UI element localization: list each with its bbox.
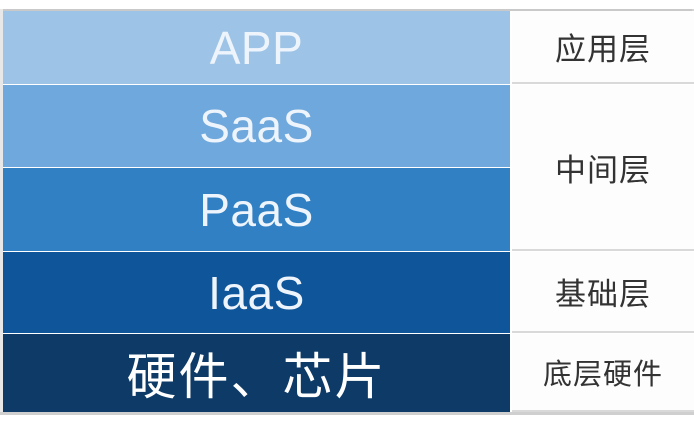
tier-label-hardware: 底层硬件 — [543, 351, 663, 393]
layer-label-saas: SaaS — [199, 99, 314, 153]
layer-label-paas: PaaS — [199, 183, 314, 237]
frame-bottom-border — [0, 412, 694, 415]
layer-band-paas[interactable]: PaaS — [3, 168, 510, 251]
layer-label-iaas: IaaS — [208, 266, 305, 320]
layer-band-saas[interactable]: SaaS — [3, 85, 510, 167]
layer-stack: APP SaaS PaaS IaaS 硬件、芯片 — [3, 11, 510, 412]
layer-label-hardware: 硬件、芯片 — [127, 337, 387, 409]
layer-band-app[interactable]: APP — [3, 11, 510, 84]
tier-label-column: 应用层 中间层 基础层 底层硬件 — [512, 11, 694, 412]
tier-cell-middle[interactable]: 中间层 — [512, 85, 694, 251]
tier-cell-foundation[interactable]: 基础层 — [512, 252, 694, 333]
tier-label-middle: 中间层 — [555, 145, 651, 190]
layer-label-app: APP — [210, 21, 304, 75]
layer-band-iaas[interactable]: IaaS — [3, 252, 510, 333]
tier-label-application: 应用层 — [555, 24, 651, 69]
tier-cell-application[interactable]: 应用层 — [512, 11, 694, 84]
tier-label-foundation: 基础层 — [555, 269, 651, 314]
tier-cell-hardware[interactable]: 底层硬件 — [512, 334, 694, 412]
layered-architecture-diagram: APP SaaS PaaS IaaS 硬件、芯片 应用层 中间层 基础层 底层硬… — [0, 0, 694, 422]
layer-band-hardware[interactable]: 硬件、芯片 — [3, 334, 510, 412]
